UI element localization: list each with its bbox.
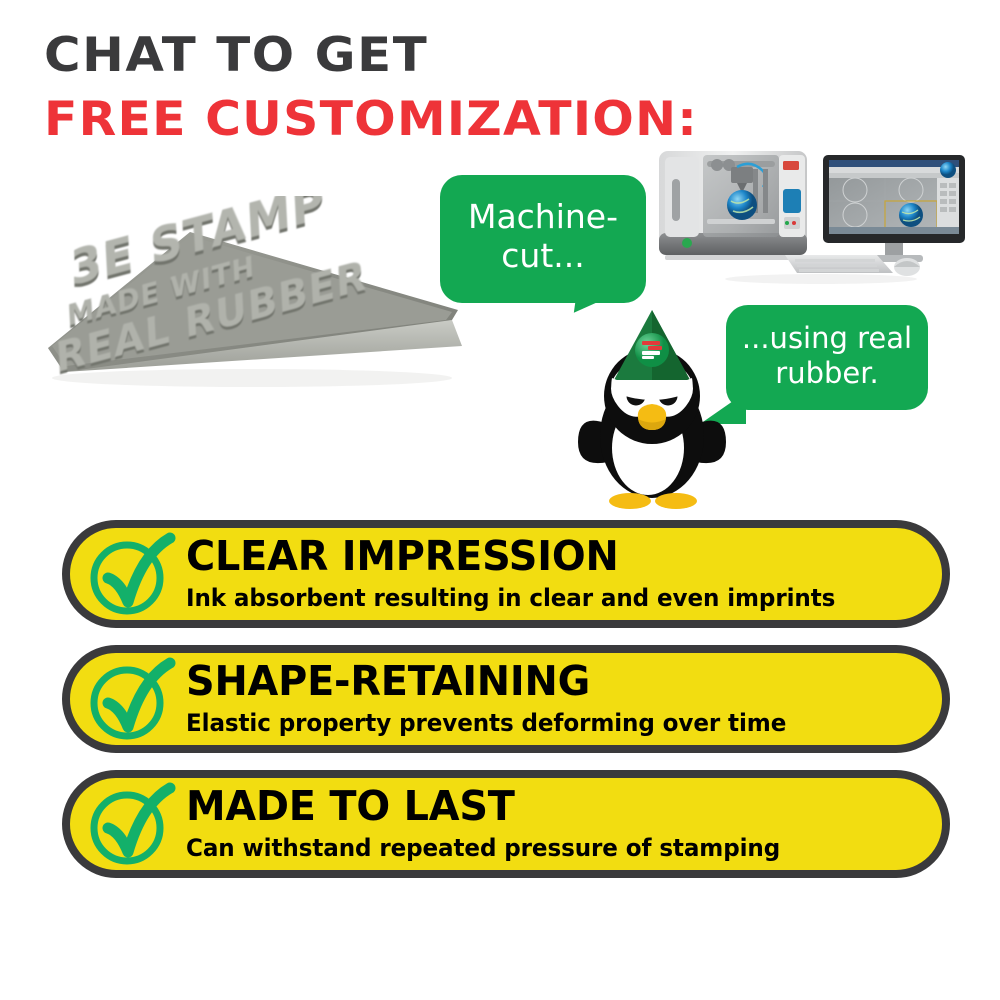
3d-printer-and-computer-photo <box>645 133 997 293</box>
promo-banner: CHAT TO GET FREE CUSTOMIZATION: <box>0 0 1000 1000</box>
penguin-mascot <box>572 302 732 520</box>
rubber-stamp-illustration: 3E STAMP 3E STAMP MADE WITH MADE WITH RE… <box>42 196 472 446</box>
headline-line-1: CHAT TO GET <box>44 32 711 79</box>
feature-text-block: MADE TO LAST Can withstand repeated pres… <box>178 786 942 863</box>
rubber-stamp-photo: 3E STAMP 3E STAMP MADE WITH MADE WITH RE… <box>42 196 472 446</box>
bubble-machine-cut: Machine-cut... <box>440 175 646 303</box>
feature-title: MADE TO LAST <box>186 786 894 828</box>
bubble-real-rubber: ...using real rubber. <box>726 305 928 410</box>
feature-bar-shape-retaining: SHAPE-RETAINING Elastic property prevent… <box>62 645 950 753</box>
feature-subtitle: Can withstand repeated pressure of stamp… <box>186 834 887 862</box>
headline-line-2: FREE CUSTOMIZATION: <box>44 96 698 143</box>
feature-subtitle: Ink absorbent resulting in clear and eve… <box>186 584 887 612</box>
penguin-illustration <box>572 302 732 520</box>
feature-subtitle: Elastic property prevents deforming over… <box>186 709 887 737</box>
feature-bar-clear-impression: CLEAR IMPRESSION Ink absorbent resulting… <box>62 520 950 628</box>
check-circle-glyph <box>82 528 178 620</box>
feature-title: CLEAR IMPRESSION <box>186 536 894 578</box>
feature-bar-made-to-last: MADE TO LAST Can withstand repeated pres… <box>62 770 950 878</box>
check-circle-glyph <box>82 778 178 870</box>
feature-title: SHAPE-RETAINING <box>186 661 894 703</box>
check-circle-icon <box>82 778 178 870</box>
bubble-real-rubber-text: ...using real rubber. <box>734 321 920 389</box>
check-circle-glyph <box>82 653 178 745</box>
feature-text-block: CLEAR IMPRESSION Ink absorbent resulting… <box>178 536 942 613</box>
page-title: CHAT TO GET FREE CUSTOMIZATION: <box>44 32 673 143</box>
equipment-illustration <box>645 133 997 293</box>
check-circle-icon <box>82 528 178 620</box>
feature-text-block: SHAPE-RETAINING Elastic property prevent… <box>178 661 942 738</box>
bubble-machine-cut-text: Machine-cut... <box>450 198 636 276</box>
check-circle-icon <box>82 653 178 745</box>
